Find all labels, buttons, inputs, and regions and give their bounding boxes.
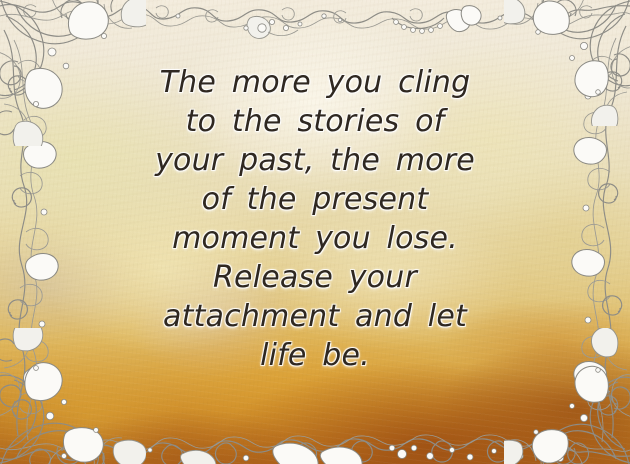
quote-line: of the present: [0, 180, 630, 219]
quote-line: to the stories of: [0, 102, 630, 141]
quote-line: moment you lose.: [0, 219, 630, 258]
filigree-border-bottom-icon: [0, 400, 630, 464]
quote-card: The more you cling to the stories of you…: [0, 0, 630, 464]
quote-line: Release your: [0, 258, 630, 297]
quote-text-block: The more you cling to the stories of you…: [0, 63, 630, 375]
quote-line: your past, the more: [0, 141, 630, 180]
quote-line: The more you cling: [0, 63, 630, 102]
quote-line: life be.: [0, 336, 630, 375]
quote-line: attachment and let: [0, 297, 630, 336]
filigree-border-top-icon: [0, 0, 630, 58]
